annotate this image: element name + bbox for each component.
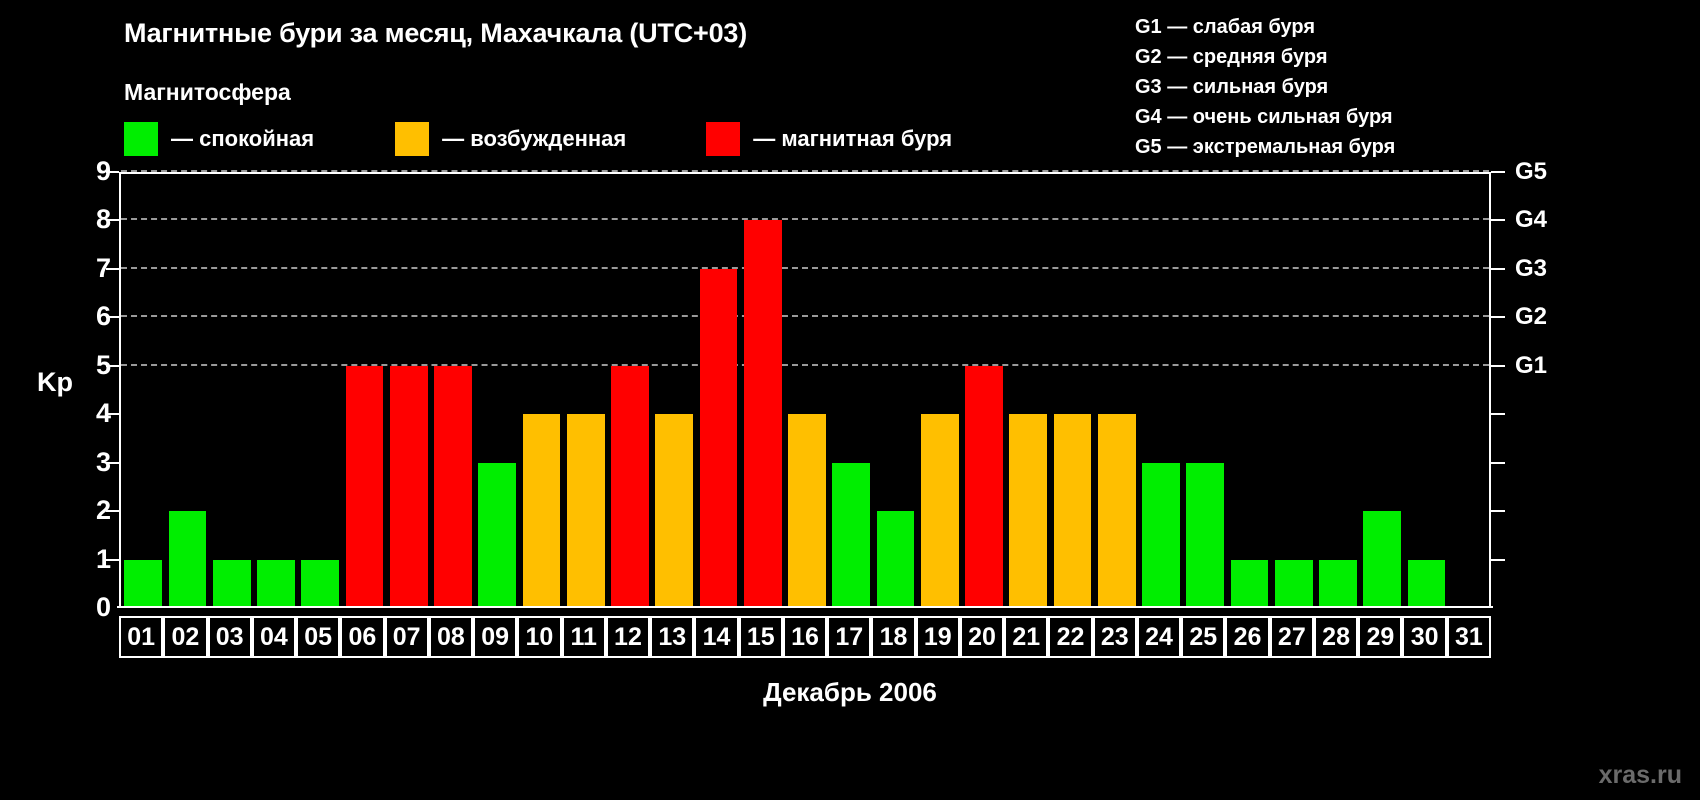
bar-day-27 (1275, 560, 1313, 608)
bar-day-19 (921, 414, 959, 608)
storm-scale-line-g5: G5 — экстремальная буря (1135, 132, 1535, 162)
y-tick-mark-5 (106, 365, 119, 367)
gridline-kp-9 (121, 170, 1489, 172)
storm-scale-line-g1: G1 — слабая буря (1135, 12, 1535, 42)
day-label-17[interactable]: 17 (827, 616, 871, 658)
legend-swatch-quiet (124, 122, 158, 156)
bar-fill (788, 414, 826, 608)
bar-day-11 (567, 414, 605, 608)
day-label-16[interactable]: 16 (783, 616, 827, 658)
bar-day-02 (169, 511, 207, 608)
bars-group (121, 174, 1489, 608)
bar-fill (1231, 560, 1269, 608)
bar-fill (877, 511, 915, 608)
day-label-18[interactable]: 18 (871, 616, 915, 658)
day-label-01[interactable]: 01 (119, 616, 163, 658)
legend: — спокойная— возбужденная— магнитная бур… (124, 122, 952, 156)
legend-item-unsettled: — возбужденная (395, 122, 626, 156)
y-tick-mark-8 (106, 219, 119, 221)
y-tick-mark-2 (106, 510, 119, 512)
day-label-27[interactable]: 27 (1270, 616, 1314, 658)
bar-day-07 (390, 366, 428, 608)
legend-item-storm: — магнитная буря (706, 122, 952, 156)
g-tick-mark-kp-3 (1491, 462, 1505, 464)
bar-fill (1275, 560, 1313, 608)
bar-fill (1009, 414, 1047, 608)
day-label-31[interactable]: 31 (1447, 616, 1491, 658)
legend-label-storm: — магнитная буря (753, 126, 952, 152)
g-tick-mark-kp-2 (1491, 510, 1505, 512)
day-label-10[interactable]: 10 (517, 616, 561, 658)
y-tick-label-6: 6 (71, 303, 111, 330)
bar-fill (655, 414, 693, 608)
g-tick-mark-kp-5 (1491, 365, 1505, 367)
g-tick-mark-kp-4 (1491, 413, 1505, 415)
bar-day-24 (1142, 463, 1180, 608)
watermark: xras.ru (1599, 761, 1682, 790)
bar-day-10 (523, 414, 561, 608)
bar-fill (478, 463, 516, 608)
legend-label-quiet: — спокойная (171, 126, 314, 152)
day-label-05[interactable]: 05 (296, 616, 340, 658)
page-title: Магнитные бури за месяц, Махачкала (UTC+… (124, 18, 747, 49)
g-tick-mark-kp-1 (1491, 559, 1505, 561)
day-label-22[interactable]: 22 (1048, 616, 1092, 658)
bar-day-04 (257, 560, 295, 608)
y-tick-mark-6 (106, 316, 119, 318)
bar-fill (1363, 511, 1401, 608)
storm-scale-line-g2: G2 — средняя буря (1135, 42, 1535, 72)
bar-day-18 (877, 511, 915, 608)
g-tick-label-G1: G1 (1515, 354, 1547, 378)
day-label-29[interactable]: 29 (1358, 616, 1402, 658)
bar-fill (346, 366, 384, 608)
bar-day-16 (788, 414, 826, 608)
day-label-06[interactable]: 06 (340, 616, 384, 658)
y-tick-label-8: 8 (71, 206, 111, 233)
bar-fill (1186, 463, 1224, 608)
magnetosphere-label: Магнитосфера (124, 79, 291, 106)
bar-fill (1054, 414, 1092, 608)
g-tick-mark-kp-8 (1491, 219, 1505, 221)
y-tick-mark-3 (106, 462, 119, 464)
bar-fill (965, 366, 1003, 608)
month-caption: Декабрь 2006 (0, 677, 1700, 708)
legend-item-quiet: — спокойная (124, 122, 314, 156)
y-tick-label-7: 7 (71, 255, 111, 282)
day-label-12[interactable]: 12 (606, 616, 650, 658)
legend-swatch-unsettled (395, 122, 429, 156)
day-label-09[interactable]: 09 (473, 616, 517, 658)
bar-day-13 (655, 414, 693, 608)
y-tick-label-3: 3 (71, 449, 111, 476)
bar-day-15 (744, 220, 782, 608)
g-tick-mark-kp-6 (1491, 316, 1505, 318)
bar-fill (124, 560, 162, 608)
day-label-03[interactable]: 03 (208, 616, 252, 658)
bar-day-22 (1054, 414, 1092, 608)
day-label-07[interactable]: 07 (385, 616, 429, 658)
bar-day-08 (434, 366, 472, 608)
bar-day-03 (213, 560, 251, 608)
chart-canvas: Магнитные бури за месяц, Махачкала (UTC+… (0, 0, 1700, 800)
day-label-28[interactable]: 28 (1314, 616, 1358, 658)
y-tick-label-4: 4 (71, 400, 111, 427)
bar-fill (744, 220, 782, 608)
bar-fill (434, 366, 472, 608)
y-tick-label-2: 2 (71, 497, 111, 524)
bar-day-21 (1009, 414, 1047, 608)
x-axis-day-labels: 0102030405060708091011121314151617181920… (119, 616, 1491, 658)
bar-fill (1098, 414, 1136, 608)
day-label-30[interactable]: 30 (1402, 616, 1446, 658)
bar-day-05 (301, 560, 339, 608)
bar-fill (301, 560, 339, 608)
day-label-23[interactable]: 23 (1093, 616, 1137, 658)
bar-fill (523, 414, 561, 608)
y-axis-title: Kp (37, 367, 73, 398)
bar-fill (921, 414, 959, 608)
storm-scale-line-g4: G4 — очень сильная буря (1135, 102, 1535, 132)
bar-day-26 (1231, 560, 1269, 608)
day-label-04[interactable]: 04 (252, 616, 296, 658)
bar-fill (390, 366, 428, 608)
bar-fill (1142, 463, 1180, 608)
bar-fill (1319, 560, 1357, 608)
bar-fill (832, 463, 870, 608)
bar-day-12 (611, 366, 649, 608)
storm-scale-key: G1 — слабая буряG2 — средняя буряG3 — си… (1135, 12, 1535, 162)
bar-day-09 (478, 463, 516, 608)
y-tick-label-1: 1 (71, 546, 111, 573)
plot-inner (121, 174, 1489, 608)
day-label-26[interactable]: 26 (1225, 616, 1269, 658)
y-tick-label-0: 0 (71, 594, 111, 621)
g-tick-label-G3: G3 (1515, 257, 1547, 281)
day-label-14[interactable]: 14 (694, 616, 738, 658)
day-label-19[interactable]: 19 (916, 616, 960, 658)
y-tick-mark-1 (106, 559, 119, 561)
bar-day-06 (346, 366, 384, 608)
bar-day-23 (1098, 414, 1136, 608)
y-tick-mark-4 (106, 413, 119, 415)
g-tick-mark-kp-7 (1491, 268, 1505, 270)
bar-fill (1408, 560, 1446, 608)
day-label-11[interactable]: 11 (562, 616, 606, 658)
g-tick-label-G4: G4 (1515, 208, 1547, 232)
bar-day-30 (1408, 560, 1446, 608)
bar-fill (169, 511, 207, 608)
bar-day-20 (965, 366, 1003, 608)
bar-day-14 (700, 269, 738, 608)
legend-label-unsettled: — возбужденная (442, 126, 626, 152)
day-label-25[interactable]: 25 (1181, 616, 1225, 658)
day-label-13[interactable]: 13 (650, 616, 694, 658)
bar-fill (213, 560, 251, 608)
day-label-15[interactable]: 15 (739, 616, 783, 658)
day-label-20[interactable]: 20 (960, 616, 1004, 658)
y-tick-mark-9 (106, 171, 119, 173)
bar-fill (567, 414, 605, 608)
day-label-02[interactable]: 02 (163, 616, 207, 658)
bar-day-25 (1186, 463, 1224, 608)
g-tick-mark-kp-9 (1491, 171, 1505, 173)
y-tick-mark-7 (106, 268, 119, 270)
plot-area (119, 172, 1491, 608)
bar-fill (257, 560, 295, 608)
legend-swatch-storm (706, 122, 740, 156)
bar-day-17 (832, 463, 870, 608)
bar-day-29 (1363, 511, 1401, 608)
day-label-21[interactable]: 21 (1004, 616, 1048, 658)
storm-scale-line-g3: G3 — сильная буря (1135, 72, 1535, 102)
bar-day-28 (1319, 560, 1357, 608)
day-label-08[interactable]: 08 (429, 616, 473, 658)
day-label-24[interactable]: 24 (1137, 616, 1181, 658)
bar-fill (611, 366, 649, 608)
y-tick-label-9: 9 (71, 158, 111, 185)
x-axis-line (117, 606, 1493, 608)
g-tick-label-G2: G2 (1515, 305, 1547, 329)
bar-fill (700, 269, 738, 608)
bar-day-01 (124, 560, 162, 608)
y-tick-label-5: 5 (71, 352, 111, 379)
g-tick-label-G5: G5 (1515, 160, 1547, 184)
